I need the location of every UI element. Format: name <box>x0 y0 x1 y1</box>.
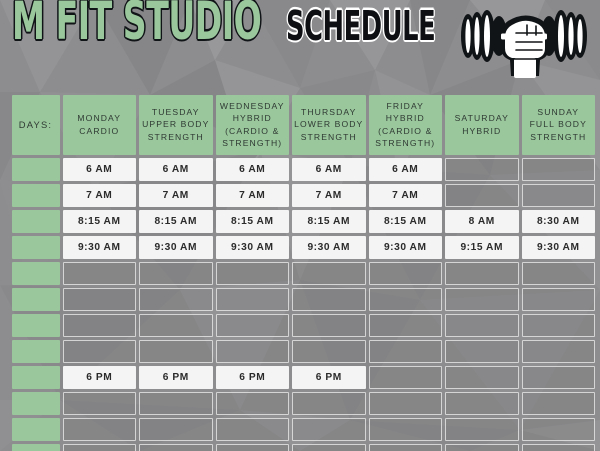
class-slot-saturday <box>445 314 519 337</box>
class-slot-saturday <box>445 158 519 181</box>
class-slot-tuesday <box>139 418 213 441</box>
class-slot-saturday <box>445 340 519 363</box>
class-slot-thursday[interactable]: 6 PM <box>292 366 366 389</box>
class-slot-sunday <box>522 418 596 441</box>
class-slot-sunday[interactable]: 9:30 AM <box>522 236 596 259</box>
class-slot-wednesday[interactable]: 6 AM <box>216 158 290 181</box>
fist-dumbbell-icon <box>454 3 594 83</box>
column-header-label: THURSDAY LOWER BODY STRENGTH <box>294 106 363 143</box>
row-label-cell <box>12 366 60 389</box>
class-slot-sunday <box>522 288 596 311</box>
brand-title: M FIT STUDIO SCHEDULE <box>12 13 448 49</box>
table-row <box>10 260 590 286</box>
class-slot-friday <box>369 288 443 311</box>
row-label-cell <box>12 184 60 207</box>
class-slot-friday <box>369 340 443 363</box>
class-slot-thursday[interactable]: 9:30 AM <box>292 236 366 259</box>
table-body: 6 AM6 AM6 AM6 AM6 AM7 AM7 AM7 AM7 AM7 AM… <box>10 156 590 451</box>
row-label-cell <box>12 418 60 441</box>
column-header-thursday: THURSDAY LOWER BODY STRENGTH <box>292 95 366 155</box>
class-slot-sunday <box>522 340 596 363</box>
class-slot-monday[interactable]: 6 AM <box>63 158 137 181</box>
class-slot-saturday <box>445 184 519 207</box>
class-slot-tuesday[interactable]: 7 AM <box>139 184 213 207</box>
class-slot-tuesday <box>139 314 213 337</box>
class-slot-wednesday <box>216 262 290 285</box>
class-slot-friday <box>369 444 443 451</box>
class-slot-friday[interactable]: 8:15 AM <box>369 210 443 233</box>
class-slot-wednesday <box>216 444 290 451</box>
class-slot-tuesday <box>139 288 213 311</box>
class-slot-wednesday <box>216 340 290 363</box>
class-slot-sunday <box>522 392 596 415</box>
page-title: SCHEDULE <box>286 6 435 47</box>
table-row <box>10 390 590 416</box>
class-slot-thursday <box>292 392 366 415</box>
class-slot-thursday <box>292 262 366 285</box>
column-header-sunday: SUNDAY FULL BODY STRENGTH <box>522 95 596 155</box>
page-header: M FIT STUDIO SCHEDULE <box>0 0 600 92</box>
column-header-label: TUESDAY UPPER BODY STRENGTH <box>142 106 209 143</box>
class-slot-sunday <box>522 184 596 207</box>
table-row: 9:30 AM9:30 AM9:30 AM9:30 AM9:30 AM9:15 … <box>10 234 590 260</box>
class-slot-monday[interactable]: 7 AM <box>63 184 137 207</box>
column-header-friday: FRIDAY HYBRID (CARDIO & STRENGTH) <box>369 95 443 155</box>
class-slot-friday[interactable]: 7 AM <box>369 184 443 207</box>
row-label-cell <box>12 444 60 451</box>
class-slot-wednesday <box>216 314 290 337</box>
table-row <box>10 442 590 451</box>
class-slot-thursday <box>292 444 366 451</box>
class-slot-tuesday <box>139 262 213 285</box>
class-slot-wednesday <box>216 288 290 311</box>
class-slot-monday <box>63 418 137 441</box>
table-row <box>10 416 590 442</box>
class-slot-friday <box>369 314 443 337</box>
class-slot-saturday <box>445 366 519 389</box>
row-label-cell <box>12 158 60 181</box>
column-header-label: SUNDAY FULL BODY STRENGTH <box>530 106 587 143</box>
class-slot-wednesday[interactable]: 9:30 AM <box>216 236 290 259</box>
class-slot-saturday <box>445 418 519 441</box>
class-slot-tuesday[interactable]: 6 PM <box>139 366 213 389</box>
row-label-cell <box>12 288 60 311</box>
column-header-wednesday: WEDNESDAY HYBRID (CARDIO & STRENGTH) <box>216 95 290 155</box>
table-row: 7 AM7 AM7 AM7 AM7 AM <box>10 182 590 208</box>
class-slot-friday[interactable]: 9:30 AM <box>369 236 443 259</box>
class-slot-thursday[interactable]: 6 AM <box>292 158 366 181</box>
class-slot-tuesday[interactable]: 6 AM <box>139 158 213 181</box>
row-label-cell <box>12 392 60 415</box>
column-header-label: WEDNESDAY HYBRID (CARDIO & STRENGTH) <box>220 100 285 149</box>
table-row <box>10 286 590 312</box>
table-row <box>10 338 590 364</box>
class-slot-saturday[interactable]: 9:15 AM <box>445 236 519 259</box>
class-slot-saturday <box>445 288 519 311</box>
table-header-row: DAYS: MONDAY CARDIO TUESDAY UPPER BODY S… <box>10 93 590 156</box>
fist-dumbbell-svg <box>454 3 594 83</box>
row-label-cell <box>12 314 60 337</box>
class-slot-wednesday[interactable]: 7 AM <box>216 184 290 207</box>
class-slot-monday <box>63 262 137 285</box>
days-header-cell: DAYS: <box>12 95 60 155</box>
column-header-label: SATURDAY HYBRID <box>455 112 509 136</box>
class-slot-friday <box>369 366 443 389</box>
class-slot-friday <box>369 418 443 441</box>
column-header-label: FRIDAY HYBRID (CARDIO & STRENGTH) <box>375 100 435 149</box>
row-label-cell <box>12 262 60 285</box>
class-slot-saturday[interactable]: 8 AM <box>445 210 519 233</box>
class-slot-saturday <box>445 444 519 451</box>
class-slot-thursday[interactable]: 7 AM <box>292 184 366 207</box>
class-slot-tuesday <box>139 392 213 415</box>
class-slot-monday <box>63 444 137 451</box>
class-slot-wednesday[interactable]: 8:15 AM <box>216 210 290 233</box>
class-slot-sunday <box>522 444 596 451</box>
row-label-cell <box>12 210 60 233</box>
table-row <box>10 312 590 338</box>
class-slot-monday <box>63 288 137 311</box>
class-slot-monday[interactable]: 8:15 AM <box>63 210 137 233</box>
class-slot-friday <box>369 392 443 415</box>
table-row: 6 PM6 PM6 PM6 PM <box>10 364 590 390</box>
class-slot-monday <box>63 340 137 363</box>
class-slot-wednesday[interactable]: 6 PM <box>216 366 290 389</box>
class-slot-wednesday <box>216 418 290 441</box>
class-slot-sunday <box>522 314 596 337</box>
class-slot-sunday <box>522 366 596 389</box>
row-label-cell <box>12 236 60 259</box>
class-slot-thursday <box>292 340 366 363</box>
class-slot-tuesday <box>139 340 213 363</box>
class-slot-tuesday[interactable]: 9:30 AM <box>139 236 213 259</box>
class-slot-monday[interactable]: 6 PM <box>63 366 137 389</box>
class-slot-sunday <box>522 262 596 285</box>
class-slot-monday <box>63 314 137 337</box>
column-header-monday: MONDAY CARDIO <box>63 95 137 155</box>
table-row: 6 AM6 AM6 AM6 AM6 AM <box>10 156 590 182</box>
class-slot-friday <box>369 262 443 285</box>
class-slot-friday[interactable]: 6 AM <box>369 158 443 181</box>
class-slot-monday[interactable]: 9:30 AM <box>63 236 137 259</box>
column-header-tuesday: TUESDAY UPPER BODY STRENGTH <box>139 95 213 155</box>
class-slot-thursday <box>292 314 366 337</box>
brand-name: M FIT STUDIO <box>12 0 261 49</box>
class-slot-tuesday[interactable]: 8:15 AM <box>139 210 213 233</box>
class-slot-monday <box>63 392 137 415</box>
column-header-saturday: SATURDAY HYBRID <box>445 95 519 155</box>
class-slot-sunday[interactable]: 8:30 AM <box>522 210 596 233</box>
class-slot-tuesday <box>139 444 213 451</box>
class-slot-wednesday <box>216 392 290 415</box>
column-header-label: MONDAY CARDIO <box>77 112 121 136</box>
class-slot-saturday <box>445 392 519 415</box>
class-slot-thursday <box>292 288 366 311</box>
class-slot-saturday <box>445 262 519 285</box>
schedule-table: DAYS: MONDAY CARDIO TUESDAY UPPER BODY S… <box>10 93 590 451</box>
class-slot-thursday[interactable]: 8:15 AM <box>292 210 366 233</box>
class-slot-thursday <box>292 418 366 441</box>
table-row: 8:15 AM8:15 AM8:15 AM8:15 AM8:15 AM8 AM8… <box>10 208 590 234</box>
class-slot-sunday <box>522 158 596 181</box>
row-label-cell <box>12 340 60 363</box>
